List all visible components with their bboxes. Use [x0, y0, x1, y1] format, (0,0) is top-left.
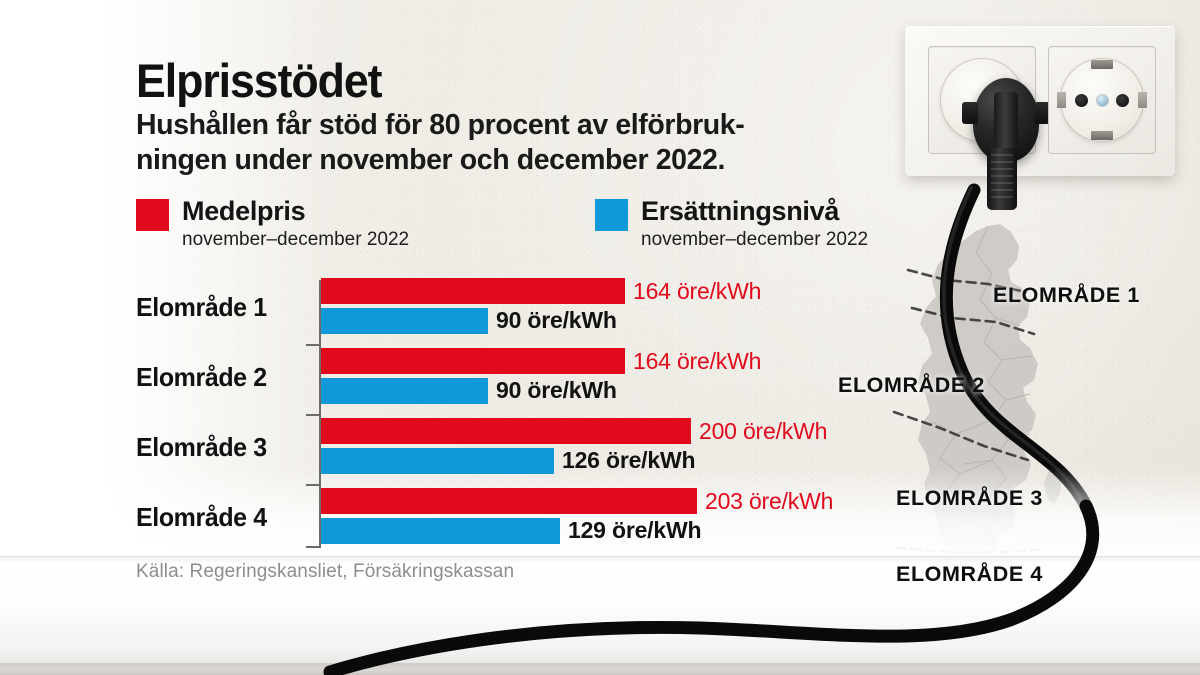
bar-value-label: 164 öre/kWh	[633, 278, 761, 305]
legend-label-ersattningsniva: Ersättningsnivå	[641, 196, 839, 227]
bar-ersattningsniva	[321, 448, 554, 474]
socket-notch-right	[1138, 92, 1147, 108]
socket-pin-hole-left	[1075, 94, 1088, 107]
map-label-elomrade-3: ELOMRÅDE 3	[896, 486, 1043, 511]
map-label-elomrade-1: ELOMRÅDE 1	[993, 283, 1140, 308]
axis-tick	[306, 484, 321, 486]
map-label-elomrade-4: ELOMRÅDE 4	[896, 562, 1043, 587]
legend-period-medelpris: november–december 2022	[182, 229, 409, 251]
bar-medelpris	[321, 348, 625, 374]
socket-outlet-left	[928, 46, 1036, 154]
bar-value-label: 200 öre/kWh	[699, 418, 827, 445]
bar-ersattningsniva	[321, 518, 560, 544]
socket-recess-right	[1060, 58, 1144, 142]
bar-value-label: 90 öre/kWh	[496, 377, 617, 404]
infographic-canvas: Elprisstödet Hushållen får stöd för 80 p…	[0, 0, 1200, 675]
bar-value-label: 90 öre/kWh	[496, 307, 617, 334]
bar-value-label: 164 öre/kWh	[633, 348, 761, 375]
socket-earth-clip-bottom	[1091, 131, 1113, 140]
bar-value-label: 129 öre/kWh	[568, 517, 701, 544]
map-label-elomrade-2: ELOMRÅDE 2	[838, 373, 985, 398]
plug-body-ridge	[994, 92, 1018, 150]
page-subtitle: Hushållen får stöd för 80 procent av elf…	[136, 108, 896, 178]
axis-tick	[306, 414, 321, 416]
bar-ersattningsniva	[321, 308, 488, 334]
socket-notch-left	[1057, 92, 1066, 108]
floor-strip	[0, 663, 1200, 675]
category-label: Elområde 4	[136, 502, 301, 533]
bar-medelpris	[321, 488, 697, 514]
socket-earth-clip-top	[1091, 60, 1113, 69]
bar-value-label: 203 öre/kWh	[705, 488, 833, 515]
axis-tick	[306, 546, 321, 548]
wall-socket	[905, 26, 1175, 176]
category-label: Elområde 3	[136, 432, 301, 463]
socket-center-screw	[1097, 95, 1108, 106]
legend-period-ersattningsniva: november–december 2022	[641, 229, 868, 251]
legend-label-medelpris: Medelpris	[182, 196, 305, 227]
red-square-swatch	[136, 199, 169, 231]
plug-cable-strain-relief	[987, 148, 1017, 210]
category-label: Elområde 2	[136, 362, 301, 393]
bar-medelpris	[321, 418, 691, 444]
bar-chart: Elområde 1164 öre/kWh90 öre/kWhElområde …	[136, 278, 896, 550]
bar-value-label: 126 öre/kWh	[562, 447, 695, 474]
plug-earth-clip-left	[962, 102, 978, 124]
blue-square-swatch	[595, 199, 628, 231]
page-title: Elprisstödet	[136, 53, 381, 108]
source-note: Källa: Regeringskansliet, Försäkringskas…	[136, 561, 514, 583]
category-label: Elområde 1	[136, 292, 301, 323]
socket-pin-hole-right	[1116, 94, 1129, 107]
bar-ersattningsniva	[321, 378, 488, 404]
socket-outlet-right	[1048, 46, 1156, 154]
bar-medelpris	[321, 278, 625, 304]
axis-tick	[306, 344, 321, 346]
